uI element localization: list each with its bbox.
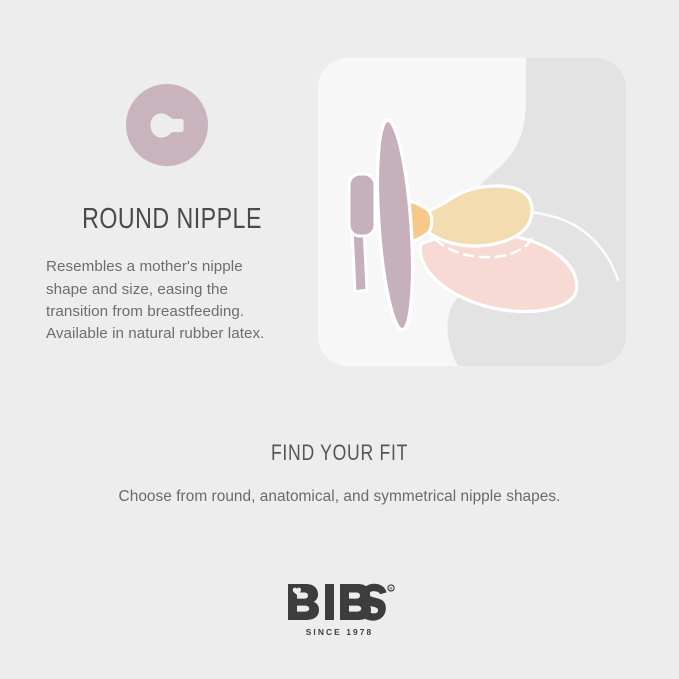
round-nipple-shape-icon [126,84,208,166]
find-your-fit-subtitle: Choose from round, anatomical, and symme… [0,488,679,506]
find-your-fit-block: FIND YOUR FIT Choose from round, anatomi… [0,440,679,506]
pacifier-ring-shape [349,174,375,236]
feature-text-column: ROUND NIPPLE Resembles a mother's nipple… [46,84,298,346]
infographic-page: ROUND NIPPLE Resembles a mother's nipple… [0,0,679,679]
svg-text:R: R [389,586,392,591]
feature-description: Resembles a mother's nipple shape and si… [46,256,288,345]
feature-section: ROUND NIPPLE Resembles a mother's nipple… [0,0,679,400]
illustration-panel [318,58,626,366]
logo-tagline: SINCE 1978 [306,627,374,637]
bibs-logo: R SINCE 1978 [0,582,679,637]
pacifier-teat-shape [400,186,532,246]
find-your-fit-title: FIND YOUR FIT [68,440,611,466]
bibs-wordmark: R [284,582,396,622]
feature-title: ROUND NIPPLE [71,204,273,234]
pacifier-shield-shape [372,119,419,331]
